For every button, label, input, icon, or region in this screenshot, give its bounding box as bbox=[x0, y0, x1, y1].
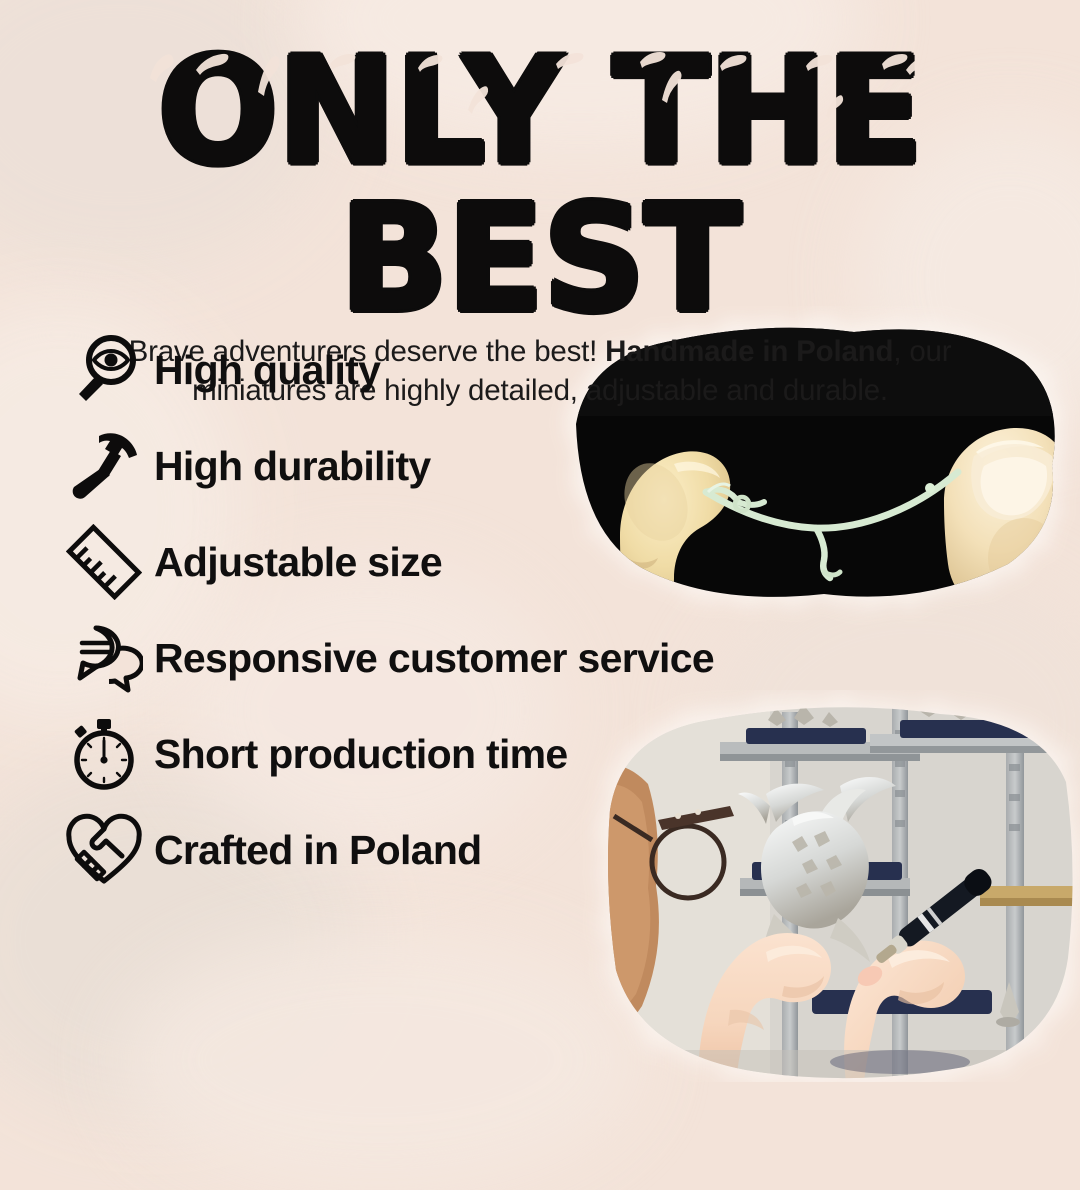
feature-label: High durability bbox=[154, 443, 431, 490]
ruler-icon bbox=[62, 524, 146, 600]
feature-label: Short production time bbox=[154, 731, 568, 778]
speech-bubbles-icon bbox=[62, 619, 146, 697]
feature-item-crafted-in-poland: Crafted in Poland bbox=[62, 802, 842, 898]
feature-item-adjustable-size: Adjustable size bbox=[62, 514, 842, 610]
hammer-icon bbox=[62, 428, 146, 504]
subtitle-text-post: , bbox=[893, 335, 901, 368]
feature-item-high-quality: High quality bbox=[62, 322, 842, 418]
feature-list: High quality High durability bbox=[62, 322, 842, 898]
heart-handshake-icon bbox=[62, 811, 146, 889]
feature-label: High quality bbox=[154, 347, 380, 394]
page-title: ONLY THE BEST bbox=[0, 38, 1080, 333]
feature-label: Adjustable size bbox=[154, 539, 442, 586]
stopwatch-icon bbox=[62, 715, 146, 793]
magnifier-eye-icon bbox=[62, 333, 146, 407]
feature-item-high-durability: High durability bbox=[62, 418, 842, 514]
feature-label: Crafted in Poland bbox=[154, 827, 482, 874]
feature-item-short-production-time: Short production time bbox=[62, 706, 842, 802]
feature-label: Responsive customer service bbox=[154, 635, 714, 682]
feature-item-responsive-customer-service: Responsive customer service bbox=[62, 610, 842, 706]
